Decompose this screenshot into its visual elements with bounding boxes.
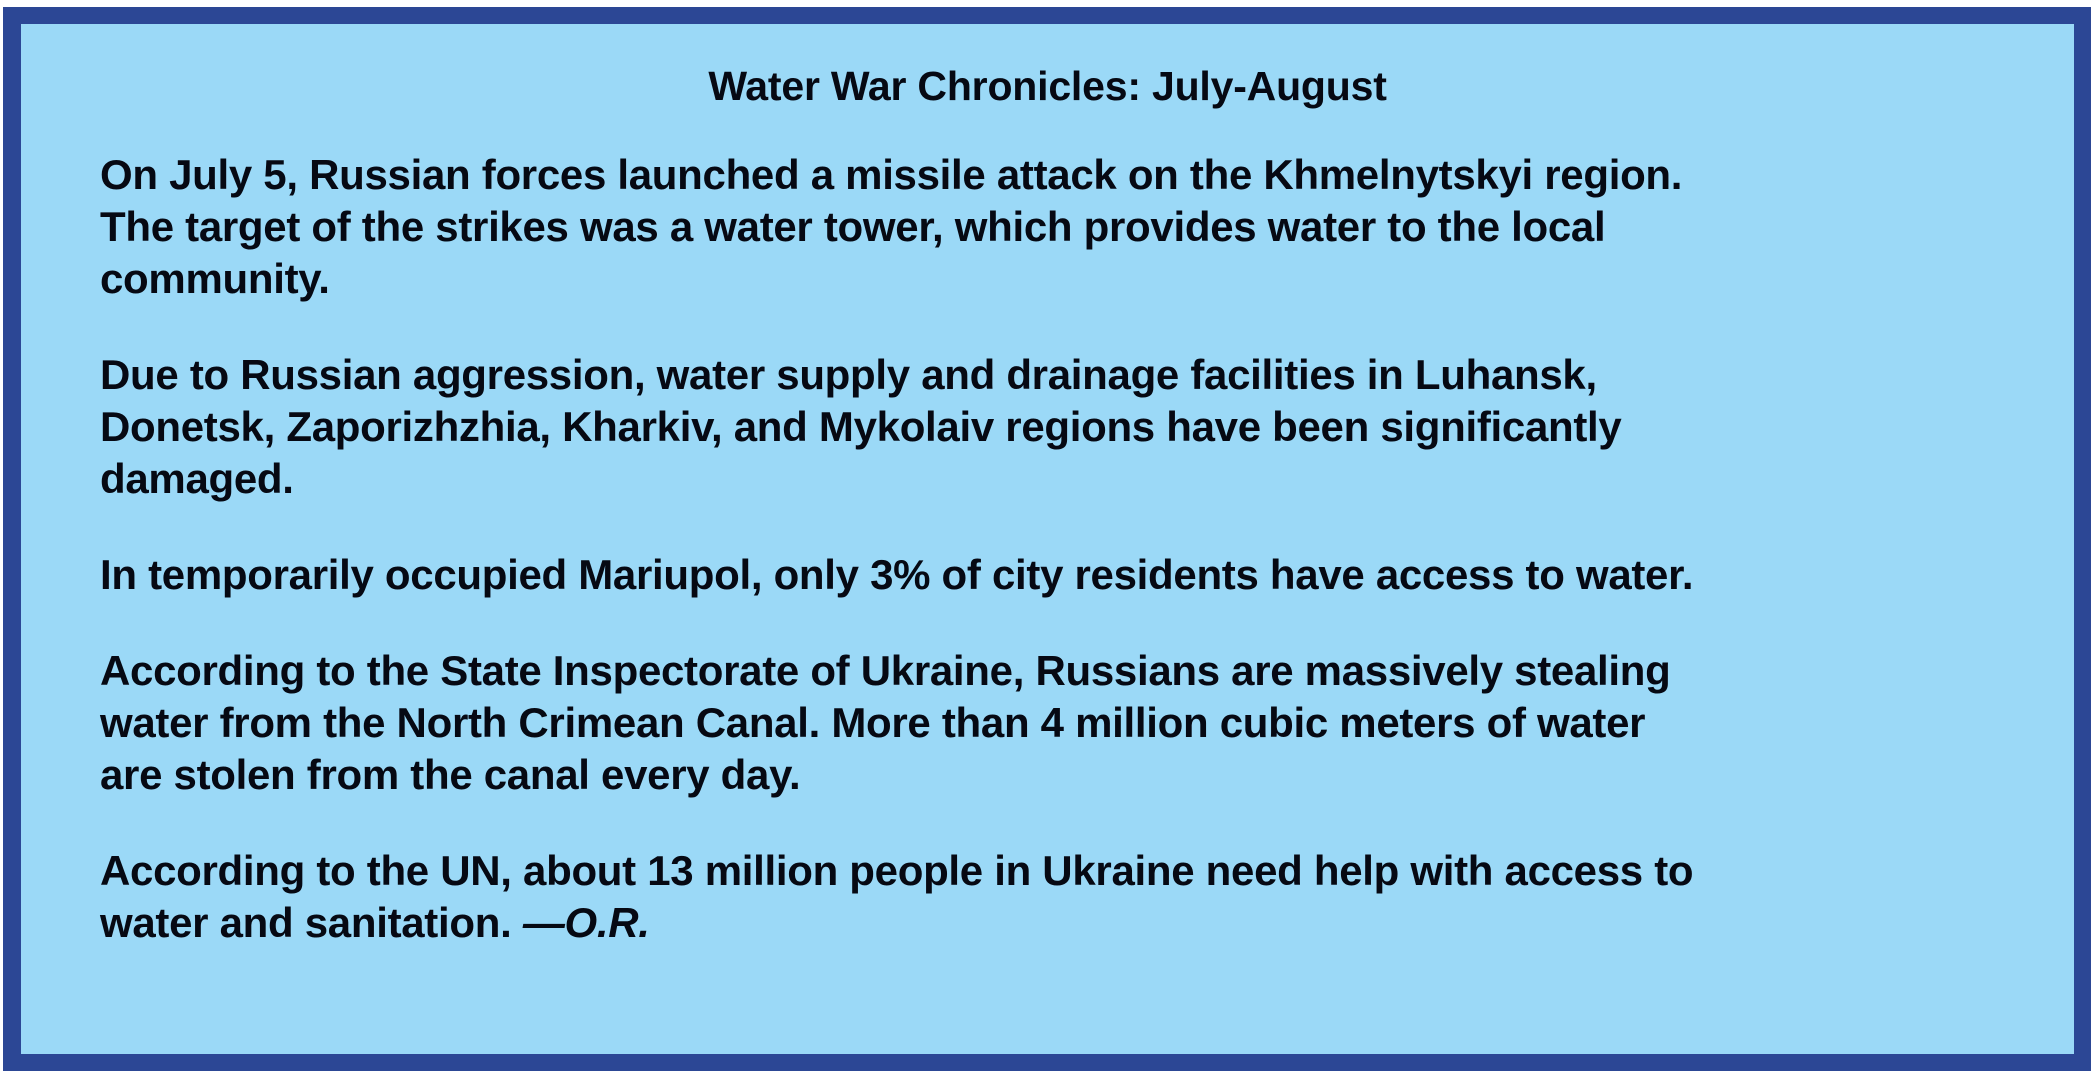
paragraph-khmelnytskyi: On July 5, Russian forces launched a mis…: [100, 149, 1980, 305]
article-body: On July 5, Russian forces launched a mis…: [100, 149, 1980, 949]
author-attribution: —O.R.: [523, 899, 650, 946]
panel-content-area: Water War Chronicles: July-August On Jul…: [21, 24, 2074, 1054]
paragraph-un: According to the UN, about 13 million pe…: [100, 845, 1980, 949]
bordered-info-panel: Water War Chronicles: July-August On Jul…: [3, 7, 2091, 1071]
paragraph-north-crimean-canal: According to the State Inspectorate of U…: [100, 645, 1980, 801]
page-title: Water War Chronicles: July-August: [21, 66, 2074, 107]
paragraph-regions-damaged: Due to Russian aggression, water supply …: [100, 349, 1980, 505]
paragraph-mariupol: In temporarily occupied Mariupol, only 3…: [100, 549, 1980, 601]
paragraph-un-text: According to the UN, about 13 million pe…: [100, 847, 1693, 946]
